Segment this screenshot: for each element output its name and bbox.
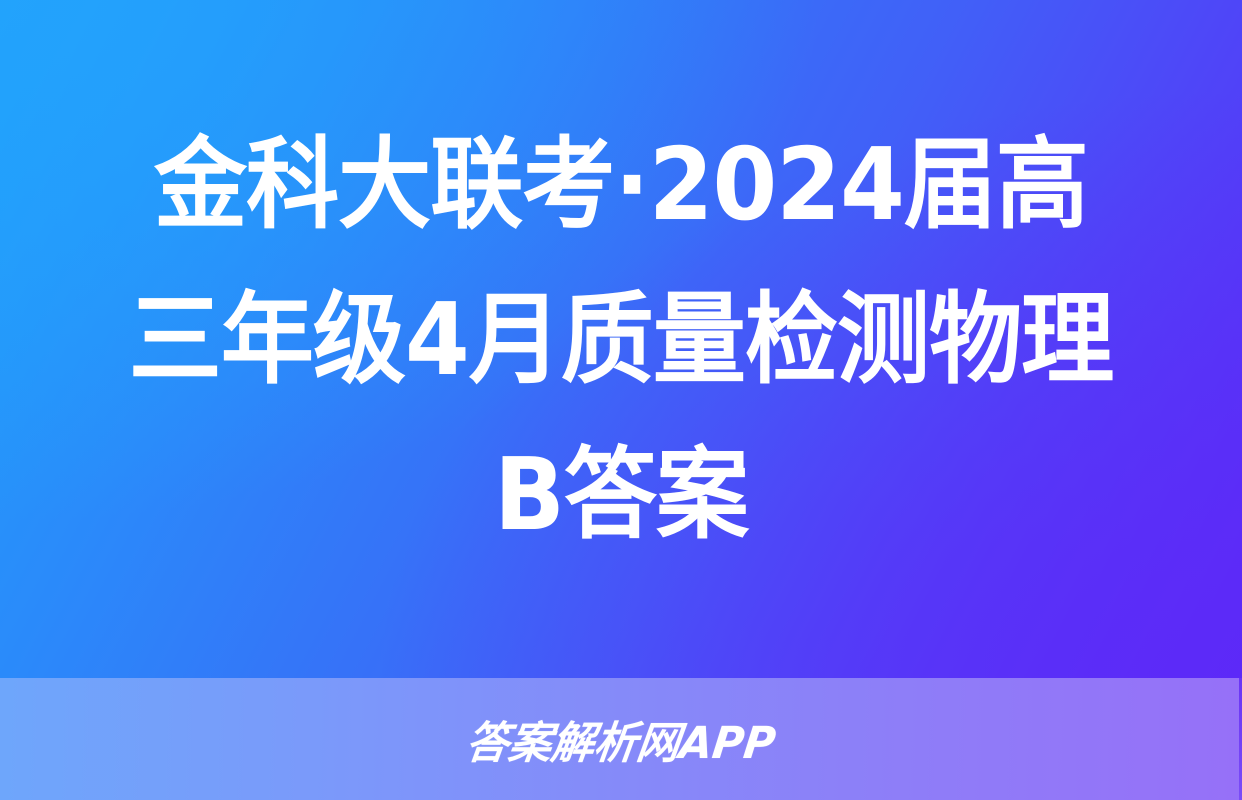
footer-watermark-block: 答案解析网APP — [0, 678, 1242, 800]
banner-screenshot: 金科大联考·2024届高三年级4月质量检测物理B答案 答案解析网APP — [0, 0, 1242, 800]
page-title: 金科大联考·2024届高三年级4月质量检测物理B答案 — [119, 107, 1123, 572]
hero-title-block: 金科大联考·2024届高三年级4月质量检测物理B答案 — [0, 0, 1242, 678]
watermark-brand-label: 答案解析网APP — [463, 707, 780, 771]
